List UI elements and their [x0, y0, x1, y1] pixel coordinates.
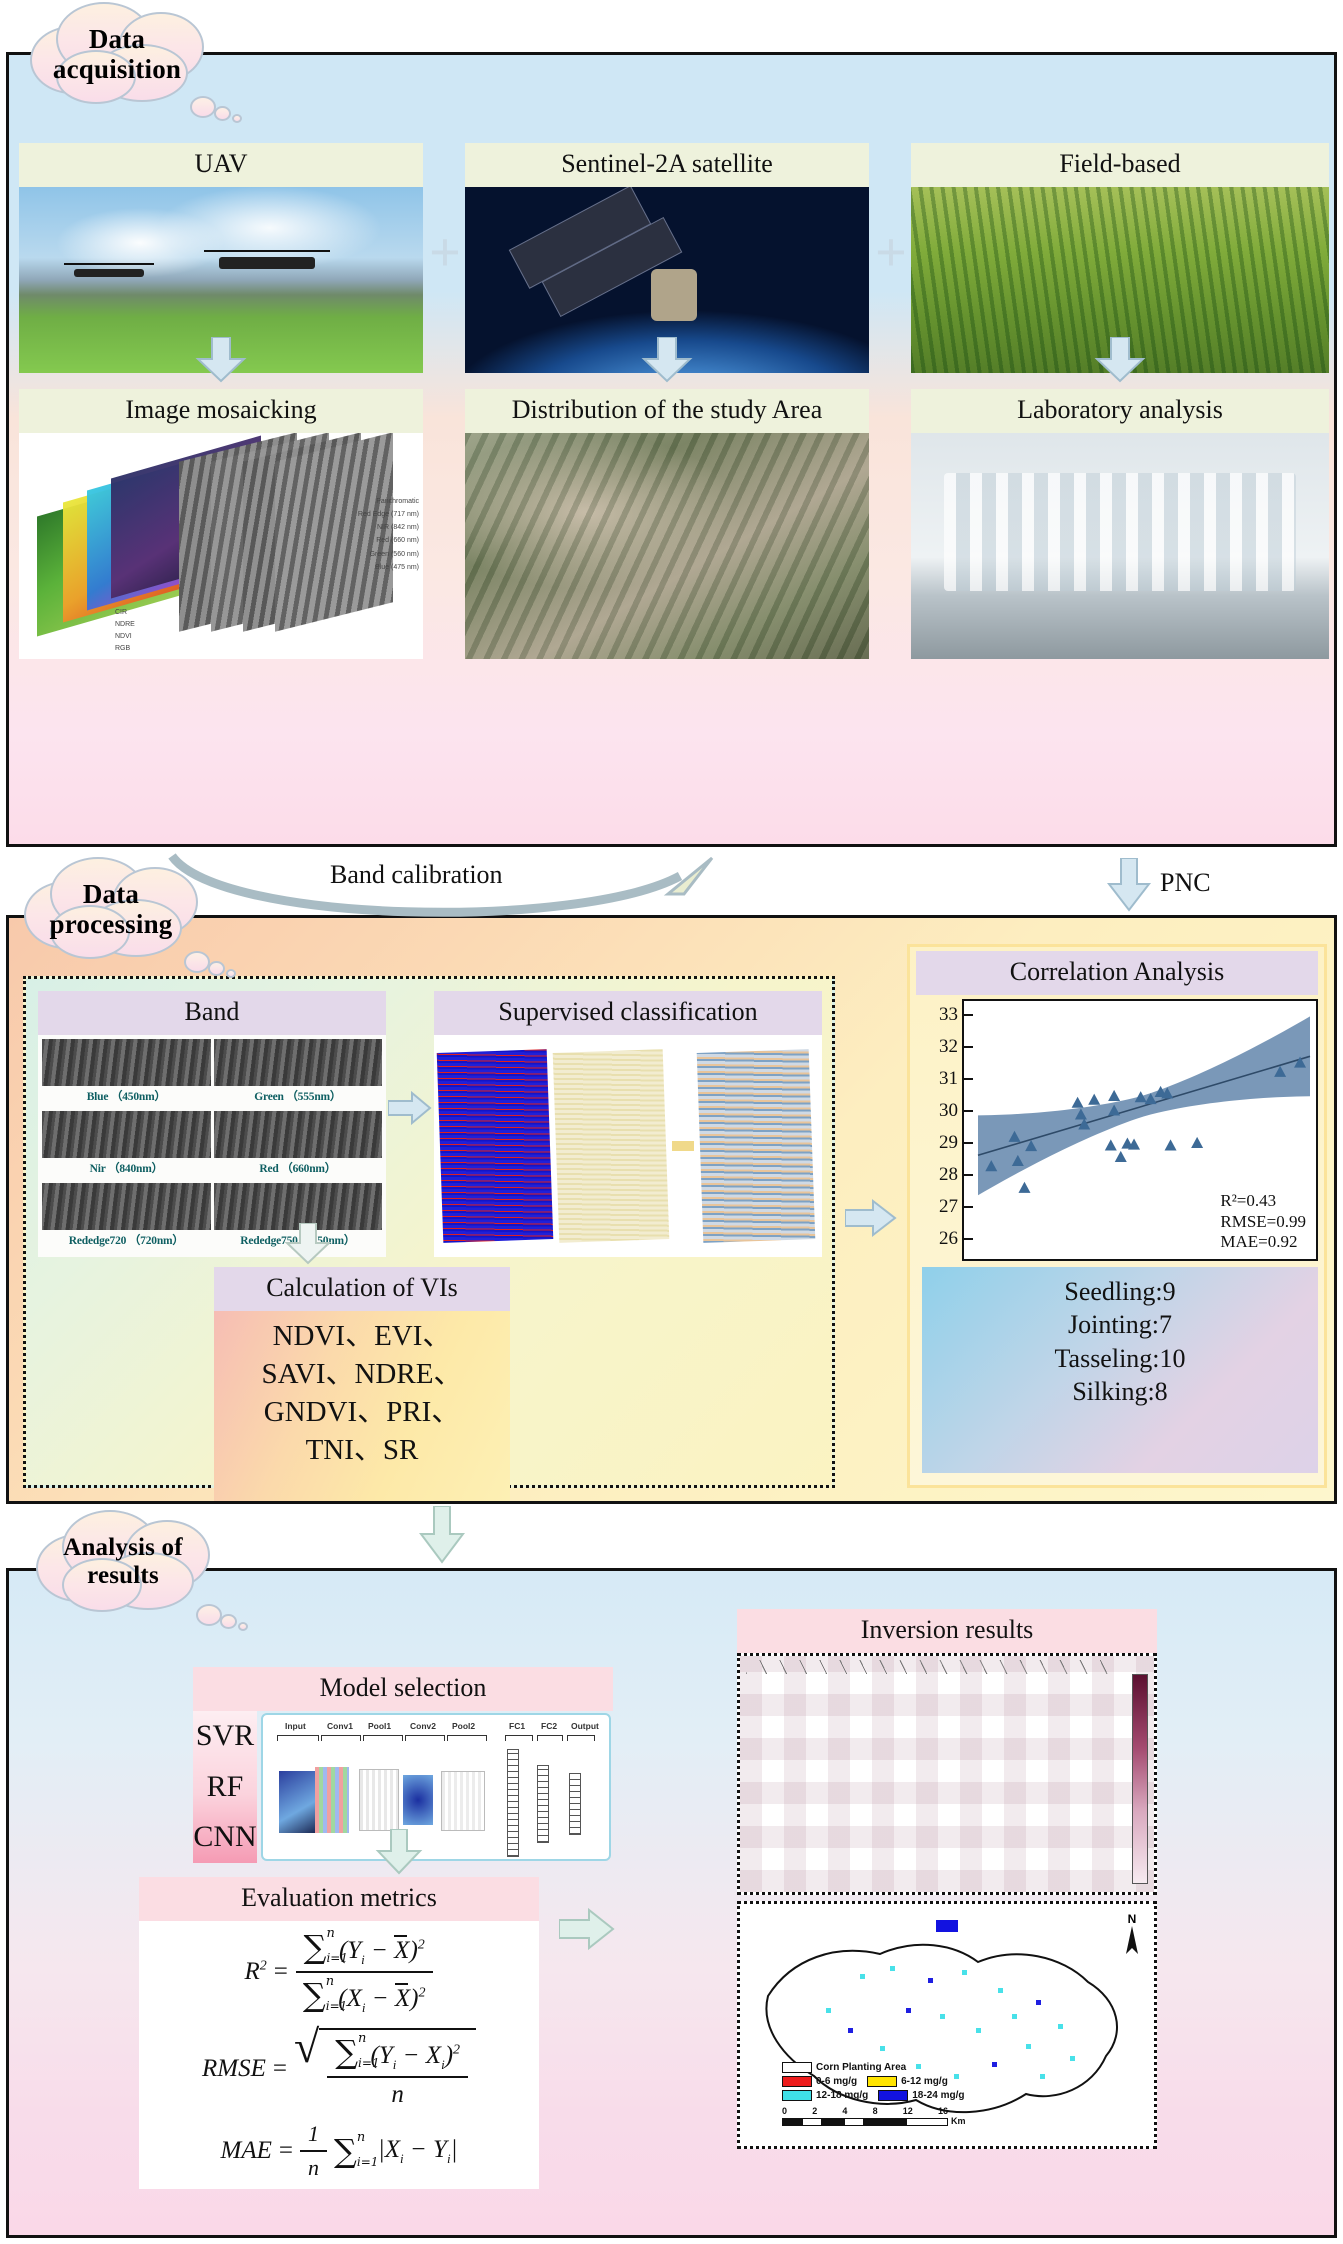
mosaic-band-label: NDVI	[115, 631, 135, 643]
badge-line-1: Analysis of	[33, 1534, 213, 1562]
legend-label: 0-6 mg/g	[816, 2076, 857, 2087]
cnn-brace	[567, 1735, 595, 1741]
panel-title-study-area: Distribution of the study Area	[465, 389, 869, 433]
thought-bubble-small	[232, 114, 242, 123]
cnn-fc1-column	[507, 1749, 519, 1857]
formula-r-squared: R2 = ∑ni=1 (Yi − X)2 ∑ni=1 (Xi − X)2	[245, 1928, 434, 2016]
cnn-layer-label: FC2	[541, 1721, 557, 1731]
panel-title-uav: UAV	[19, 143, 423, 187]
band-tile: Nir （840nm）	[42, 1111, 211, 1180]
classified-raster-a	[437, 1049, 554, 1243]
legend-label-area: Corn Planting Area	[816, 2062, 906, 2073]
vis-line: NDVI、EVI、	[214, 1317, 510, 1355]
arrow-uav-to-mosaic	[194, 337, 248, 383]
image-study-area	[465, 433, 869, 659]
vis-line: GNDVI、PRI、	[214, 1393, 510, 1431]
arrow-metrics-to-inversion	[559, 1907, 615, 1951]
legend-row: 0-6 mg/g	[782, 2076, 857, 2087]
panel-evaluation-metrics: Evaluation metrics R2 = ∑ni=1 (Yi − X)2 …	[139, 1877, 539, 2189]
formula-list: R2 = ∑ni=1 (Yi − X)2 ∑ni=1 (Xi − X)2 RMS…	[139, 1921, 539, 2189]
arrow-processing-to-results	[418, 1506, 466, 1564]
badge-line-2: acquisition	[27, 54, 207, 84]
label-pnc: PNC	[1160, 868, 1211, 898]
model-list: SVR RF CNN	[193, 1711, 257, 1863]
panel-band: Band Blue （450nm） Green （555nm） Nir （840…	[38, 991, 386, 1257]
thought-bubble-large	[184, 951, 210, 973]
panel-title-band: Band	[38, 991, 386, 1035]
mosaic-band-label: CIR	[115, 607, 135, 619]
cnn-conv1-volume	[315, 1767, 349, 1833]
mosaic-band-label: RGB	[115, 643, 135, 655]
legend-label: 18-24 mg/g	[912, 2090, 964, 2101]
mosaic-band-label: NDRE	[115, 619, 135, 631]
band-grid: Blue （450nm） Green （555nm） Nir （840nm） R…	[38, 1035, 386, 1257]
plus-icon-1: +	[429, 225, 461, 281]
cnn-brace	[363, 1735, 403, 1741]
badge-line-2: processing	[21, 909, 201, 939]
legend-swatch-area	[782, 2062, 812, 2073]
panel-title-model-selection: Model selection	[193, 1667, 613, 1711]
cnn-architecture-diagram: Input Conv1 Pool1 Conv2 Pool2 FC1 FC2 Ou…	[261, 1713, 611, 1861]
cnn-layer-label: Pool1	[368, 1721, 391, 1731]
y-tick-label: 29	[939, 1132, 958, 1154]
processing-inner-frame: Band Blue （450nm） Green （555nm） Nir （840…	[23, 976, 835, 1488]
model-item-cnn[interactable]: CNN	[193, 1820, 256, 1854]
cnn-brace	[447, 1735, 487, 1741]
cnn-pool1-volume	[359, 1769, 399, 1831]
stat-rmse: RMSE=0.99	[1220, 1212, 1306, 1233]
panel-title-supervised-classification: Supervised classification	[434, 991, 822, 1035]
scalebar-tick: 8	[873, 2106, 878, 2116]
cnn-brace	[321, 1735, 361, 1741]
panel-title-calculation-of-vis: Calculation of VIs	[214, 1267, 510, 1311]
badge-data-acquisition: Data acquisition	[22, 0, 212, 108]
arrow-sentinel-to-area	[640, 337, 694, 383]
classified-raster-b	[553, 1049, 670, 1243]
panel-laboratory: Laboratory analysis	[911, 389, 1329, 659]
legend-row: 6-12 mg/g	[867, 2076, 948, 2087]
arrow-to-correlation	[845, 1198, 897, 1238]
y-tick-label: 31	[939, 1068, 958, 1090]
thought-bubble-medium	[214, 106, 231, 121]
panel-correlation-analysis: Correlation Analysis 33 32 31 30 29 28 2…	[907, 944, 1327, 1488]
scalebar-tick: 4	[842, 2106, 847, 2116]
growth-stages-box: Seedling:9 Jointing:7 Tasseling:10 Silki…	[922, 1267, 1318, 1473]
cnn-layer-label: Pool2	[452, 1721, 475, 1731]
model-item-svr[interactable]: SVR	[196, 1719, 254, 1753]
map-legend: Corn Planting Area 0-6 mg/g 6-12 mg/g	[782, 2062, 966, 2126]
legend-swatch	[782, 2090, 812, 2101]
arrow-band-calibration	[160, 850, 720, 922]
legend-row: 18-24 mg/g	[878, 2090, 964, 2101]
arrow-band-to-vis	[284, 1223, 332, 1265]
mosaic-band-label: Panchromatic	[358, 495, 419, 508]
panel-title-mosaic: Image mosaicking	[19, 389, 423, 433]
image-mosaic: Panchromatic Red Edge (717 nm) NIR (842 …	[19, 433, 423, 659]
badge-analysis-of-results: Analysis of results	[28, 1508, 218, 1616]
legend-label: 6-12 mg/g	[901, 2076, 948, 2087]
thought-bubble-small	[238, 1622, 248, 1631]
cnn-pool2-volume	[441, 1771, 485, 1831]
cnn-layer-label: Conv1	[327, 1721, 353, 1731]
image-laboratory	[911, 433, 1329, 659]
arrow-model-to-metrics	[375, 1829, 423, 1875]
badge-line-1: Data	[21, 879, 201, 909]
panel-title-correlation-analysis: Correlation Analysis	[916, 951, 1318, 995]
panel-title-laboratory: Laboratory analysis	[911, 389, 1329, 433]
mosaic-band-label: Red (660 nm)	[358, 534, 419, 547]
scalebar-tick: 12	[903, 2106, 913, 2116]
panel-inversion-results: Inversion results	[737, 1609, 1157, 2149]
thought-bubble-small	[226, 969, 236, 978]
scalebar-tick: 2	[812, 2106, 817, 2116]
badge-line-1: Data	[27, 24, 207, 54]
badge-data-processing: Data processing	[16, 855, 206, 963]
scalebar-unit: Km	[951, 2116, 966, 2126]
thought-bubble-large	[190, 96, 216, 118]
y-tick-label: 30	[939, 1100, 958, 1122]
stage-line: Seedling:9	[922, 1275, 1318, 1308]
legend-row: 12-18 mg/g	[782, 2090, 868, 2101]
formula-mae: MAE = 1 n ∑ni=1 |Xi − Yi|	[221, 2121, 458, 2181]
badge-line-2: results	[33, 1562, 213, 1590]
classification-images	[434, 1035, 822, 1257]
panel-title-evaluation-metrics: Evaluation metrics	[139, 1877, 539, 1921]
formula-rmse: RMSE = √ ∑ni=1 (Yi − Xi)2 n	[202, 2028, 476, 2109]
cnn-input-volume	[279, 1771, 319, 1833]
map-scalebar: 0 2 4 8 12 16	[782, 2106, 966, 2126]
y-tick-label: 27	[939, 1196, 958, 1218]
panel-title-field: Field-based	[911, 143, 1329, 187]
scalebar-tick: 16	[938, 2106, 948, 2116]
cnn-layer-label: Output	[571, 1721, 599, 1731]
legend-label: 12-18 mg/g	[816, 2090, 868, 2101]
classified-raster-c	[697, 1049, 816, 1243]
stat-r2: R²=0.43	[1220, 1191, 1306, 1212]
panel-title-sentinel: Sentinel-2A satellite	[465, 143, 869, 187]
section-data-processing: Band Blue （450nm） Green （555nm） Nir （840…	[6, 915, 1337, 1504]
mosaic-band-label: Blue (475 nm)	[358, 561, 419, 574]
y-tick-label: 33	[939, 1004, 958, 1026]
stat-mae: MAE=0.92	[1220, 1232, 1306, 1253]
vis-list: NDVI、EVI、 SAVI、NDRE、 GNDVI、PRI、 TNI、SR	[214, 1311, 510, 1504]
cnn-brace	[277, 1735, 319, 1741]
thought-bubble-medium	[208, 961, 225, 976]
band-tile: Red （660nm）	[214, 1111, 383, 1180]
panel-study-area: Distribution of the study Area	[465, 389, 869, 659]
thought-bubble-large	[196, 1604, 222, 1626]
y-tick-label: 26	[939, 1228, 958, 1250]
image-correlation-matrix	[740, 1656, 1154, 1892]
panel-title-inversion-results: Inversion results	[737, 1609, 1157, 1653]
scalebar-tick: 0	[782, 2106, 787, 2116]
band-tile: Green （555nm）	[214, 1039, 383, 1108]
mosaic-band-label: Green (560 nm)	[358, 548, 419, 561]
y-tick-label: 28	[939, 1164, 958, 1186]
stage-line: Tasseling:10	[922, 1342, 1318, 1375]
vis-line: SAVI、NDRE、	[214, 1355, 510, 1393]
chart-stats: R²=0.43 RMSE=0.99 MAE=0.92	[1220, 1191, 1306, 1253]
chart-correlation-scatter: 33 32 31 30 29 28 27 26 R²=0.43 RMSE=0.9…	[962, 999, 1318, 1261]
panel-supervised-classification: Supervised classification	[434, 991, 822, 1257]
arrow-pnc	[1106, 858, 1152, 912]
mosaic-band-label: Red Edge (717 nm)	[358, 508, 419, 521]
arrow-classification-step	[672, 1141, 694, 1151]
cnn-brace	[537, 1735, 563, 1741]
panel-mosaic: Image mosaicking Panchromatic Red Edge (…	[19, 389, 423, 659]
legend-swatch	[782, 2076, 812, 2087]
inversion-map-frame: N Corn Planting Area 0-6 mg/g	[737, 1901, 1157, 2149]
section-data-acquisition: UAV + Sentinel-2A satellite + Field-base…	[6, 52, 1337, 847]
cnn-conv2-volume	[403, 1775, 433, 1825]
image-inversion-map: N Corn Planting Area 0-6 mg/g	[740, 1904, 1154, 2146]
cnn-brace	[505, 1735, 533, 1741]
arrow-field-to-lab	[1093, 337, 1147, 383]
y-tick-label: 32	[939, 1036, 958, 1058]
legend-swatch	[878, 2090, 908, 2101]
arrow-band-to-classification	[388, 1091, 432, 1125]
cnn-output-column	[569, 1773, 581, 1835]
model-item-rf[interactable]: RF	[207, 1770, 244, 1804]
cnn-layer-label: Input	[285, 1721, 306, 1731]
cnn-fc2-column	[537, 1765, 549, 1843]
stage-line: Silking:8	[922, 1375, 1318, 1408]
band-tile: Blue （450nm）	[42, 1039, 211, 1108]
panel-calculation-of-vis: Calculation of VIs NDVI、EVI、 SAVI、NDRE、 …	[214, 1267, 510, 1504]
vis-line: TNI、SR	[214, 1431, 510, 1469]
cnn-layer-label: Conv2	[410, 1721, 436, 1731]
thought-bubble-medium	[220, 1614, 237, 1629]
cnn-brace	[405, 1735, 445, 1741]
cnn-layer-label: FC1	[509, 1721, 525, 1731]
stage-line: Jointing:7	[922, 1308, 1318, 1341]
mosaic-band-label: NIR (842 nm)	[358, 521, 419, 534]
legend-row-title: Corn Planting Area	[782, 2062, 966, 2073]
band-tile: Rededge720 （720nm）	[42, 1183, 211, 1252]
north-arrow-icon: N	[1124, 1912, 1140, 1961]
plus-icon-2: +	[875, 225, 907, 281]
inversion-matrix-frame	[737, 1653, 1157, 1895]
legend-swatch	[867, 2076, 897, 2087]
section-analysis-of-results: Model selection SVR RF CNN Input Conv1 P…	[6, 1568, 1337, 2238]
